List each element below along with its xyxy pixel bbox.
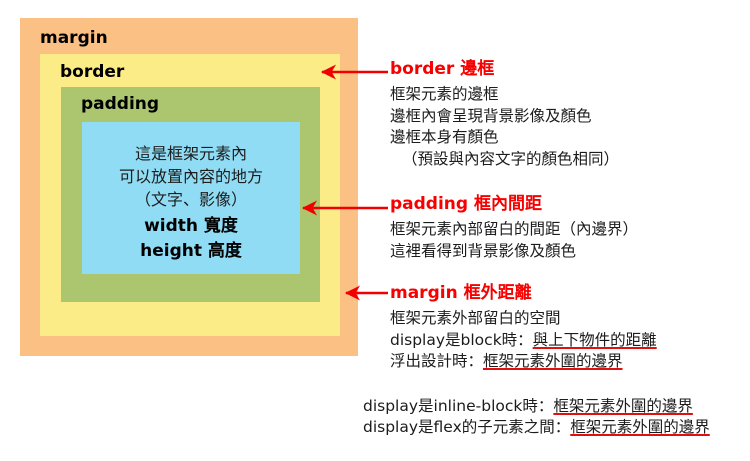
annotation-extra-rule-1: display是inline-block時：框架元素外圍的邊界 [363,396,710,417]
content-width-label: width 寬度 [82,214,300,239]
padding-box: padding 這是框架元素內 可以放置內容的地方 （文字、影像） width … [61,87,320,302]
annotation-margin-rule-2: 浮出設計時：框架元素外圍的邊界 [390,351,657,372]
annotation-margin-rule-1-emphasis: 與上下物件的距離 [533,331,657,349]
annotation-padding-body: 框架元素內部留白的間距（內邊界） 這裡看得到背景影像及顏色 [390,219,638,262]
content-box: 這是框架元素內 可以放置內容的地方 （文字、影像） width 寬度 heigh… [82,122,300,274]
annotation-border-line-1: 框架元素的邊框 [390,84,619,105]
annotation-extra-rules-body: display是inline-block時：框架元素外圍的邊界 display是… [363,396,710,439]
annotation-margin-rule-2-prefix: 浮出設計時： [390,352,483,370]
content-height-label: height 高度 [82,239,300,264]
annotation-extra-rule-1-prefix: display是inline-block時： [363,397,553,415]
annotation-border: border 邊框 框架元素的邊框 邊框內會呈現背景影像及顏色 邊框本身有顏色 … [390,59,619,170]
box-model-diagram-page: margin border padding 這是框架元素內 可以放置內容的地方 … [0,0,750,461]
annotation-border-title: border 邊框 [390,59,619,79]
annotation-padding-title: padding 框內間距 [390,194,638,214]
annotation-padding-line-1: 框架元素內部留白的間距（內邊界） [390,219,638,240]
content-line-2: 可以放置內容的地方 [82,165,300,188]
annotation-padding: padding 框內間距 框架元素內部留白的間距（內邊界） 這裡看得到背景影像及… [390,194,638,262]
annotation-margin-rule-1: display是block時：與上下物件的距離 [390,330,657,351]
annotation-extra-rule-2-prefix: display是flex的子元素之間： [363,418,570,436]
annotation-margin-rule-2-emphasis: 框架元素外圍的邊界 [483,352,623,370]
border-box: border padding 這是框架元素內 可以放置內容的地方 （文字、影像）… [40,54,340,336]
annotation-margin: margin 框外距離 框架元素外部留白的空間 display是block時：與… [390,283,657,373]
margin-box: margin border padding 這是框架元素內 可以放置內容的地方 … [20,18,358,356]
annotation-extra-rule-2: display是flex的子元素之間：框架元素外圍的邊界 [363,417,710,438]
content-line-1: 這是框架元素內 [82,142,300,165]
content-box-description: 這是框架元素內 可以放置內容的地方 （文字、影像） [82,142,300,212]
annotation-margin-rule-1-prefix: display是block時： [390,331,533,349]
annotation-margin-body: 框架元素外部留白的空間 display是block時：與上下物件的距離 浮出設計… [390,308,657,372]
annotation-margin-line-1: 框架元素外部留白的空間 [390,308,657,329]
annotation-extra-rule-2-emphasis: 框架元素外圍的邊界 [570,418,710,436]
content-box-dimensions: width 寬度 height 高度 [82,214,300,263]
annotation-border-line-3: 邊框本身有顏色 [390,127,619,148]
border-box-label: border [60,64,124,81]
annotation-extra-rule-1-emphasis: 框架元素外圍的邊界 [553,397,693,415]
annotation-border-line-2: 邊框內會呈現背景影像及顏色 [390,106,619,127]
annotation-padding-line-2: 這裡看得到背景影像及顏色 [390,241,638,262]
margin-box-label: margin [40,30,108,47]
padding-box-label: padding [81,96,159,113]
annotation-extra-rules: display是inline-block時：框架元素外圍的邊界 display是… [363,396,710,439]
annotation-border-body: 框架元素的邊框 邊框內會呈現背景影像及顏色 邊框本身有顏色 （預設與內容文字的顏… [390,84,619,170]
annotation-margin-title: margin 框外距離 [390,283,657,303]
content-line-3: （文字、影像） [82,188,300,211]
annotation-border-line-4: （預設與內容文字的顏色相同） [390,149,619,170]
